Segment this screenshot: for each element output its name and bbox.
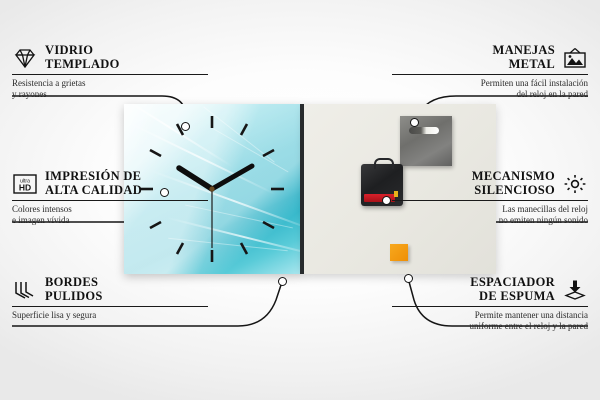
feature-title: MECANISMO SILENCIOSO	[472, 170, 555, 197]
feature-manejas-metal: MANEJAS METAL Permiten una fácil instala…	[392, 44, 588, 100]
feature-description: Resistencia a grietas y rayones	[12, 78, 208, 100]
clock-minute-hand	[212, 166, 252, 189]
ultra-hd-icon: ultra HD	[12, 173, 38, 195]
divider	[392, 200, 588, 201]
divider	[392, 74, 588, 75]
feature-description: Las manecillas del reloj no emiten ningú…	[392, 204, 588, 226]
divider	[12, 306, 208, 307]
connector-dot-bordes	[278, 277, 287, 286]
metal-hanger-plate	[400, 116, 452, 166]
feature-bordes-pulidos: BORDES PULIDOS Superficie lisa y segura	[12, 276, 208, 321]
feature-mecanismo-silencioso: MECANISMO SILENCIOSO Las manecillas del …	[392, 170, 588, 226]
connector-dot-mecanismo	[382, 196, 391, 205]
diamond-icon	[12, 47, 38, 69]
picture-frame-icon	[562, 47, 588, 69]
feature-title: BORDES PULIDOS	[45, 276, 103, 303]
feature-title: IMPRESIÓN DE ALTA CALIDAD	[45, 170, 142, 197]
feature-description: Colores intensos e imagen vívida	[12, 204, 208, 226]
polished-edges-icon	[12, 279, 38, 301]
feature-impresion-alta-calidad: ultra HD IMPRESIÓN DE ALTA CALIDAD Color…	[12, 170, 208, 226]
feature-title: VIDRIO TEMPLADO	[45, 44, 120, 71]
movement-hanger-loop	[374, 158, 394, 169]
hanger-keyhole-slot	[409, 127, 439, 134]
feature-description: Superficie lisa y segura	[12, 310, 208, 321]
connector-dot-manejas	[410, 118, 419, 127]
divider	[12, 200, 208, 201]
feature-espaciador-espuma: ESPACIADOR DE ESPUMA Permite mantener un…	[392, 276, 588, 332]
gear-icon	[562, 173, 588, 195]
svg-text:HD: HD	[19, 182, 31, 192]
feature-description: Permiten una fácil instalación del reloj…	[392, 78, 588, 100]
feature-title: MANEJAS METAL	[492, 44, 555, 71]
divider	[392, 306, 588, 307]
feature-title: ESPACIADOR DE ESPUMA	[470, 276, 555, 303]
foam-spacer-icon	[562, 279, 588, 301]
divider	[12, 74, 208, 75]
feature-vidrio-templado: VIDRIO TEMPLADO Resistencia a grietas y …	[12, 44, 208, 100]
foam-spacer	[390, 244, 408, 261]
infographic-canvas: VIDRIO TEMPLADO Resistencia a grietas y …	[0, 0, 600, 400]
clock-center-cap	[209, 186, 214, 191]
connector-dot-vidrio	[181, 122, 190, 131]
feature-description: Permite mantener una distancia uniforme …	[392, 310, 588, 332]
